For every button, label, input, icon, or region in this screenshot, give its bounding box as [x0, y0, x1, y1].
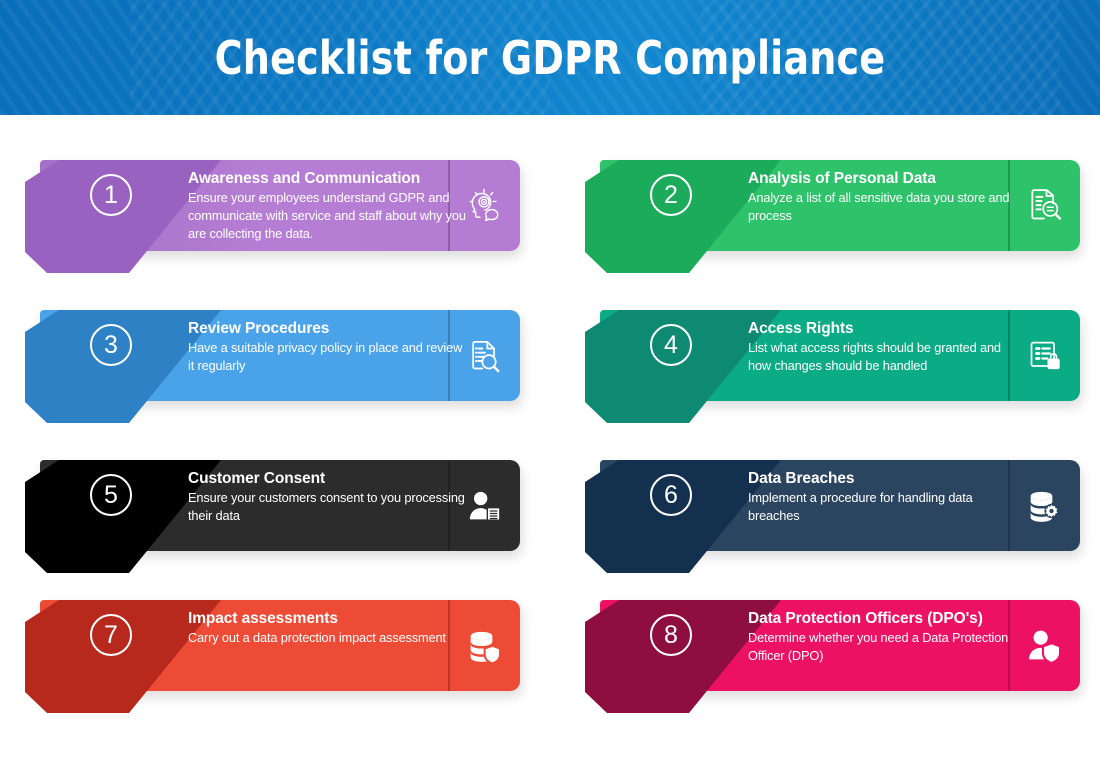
card-text: Customer Consent Ensure your customers c… [188, 469, 466, 525]
card-title: Data Protection Officers (DPO's) [748, 609, 1026, 628]
checklist-card-4[interactable]: Access Rights List what access rights sh… [600, 310, 1080, 401]
card-number-badge: 1 [90, 174, 132, 216]
checklist-card-2[interactable]: Analysis of Personal Data Analyze a list… [600, 160, 1080, 251]
card-description: Have a suitable privacy policy in place … [188, 339, 466, 374]
card-description: Implement a procedure for handling data … [748, 489, 1026, 524]
card-number-badge: 3 [90, 324, 132, 366]
card-text: Awareness and Communication Ensure your … [188, 169, 466, 242]
checklist-card-3[interactable]: Review Procedures Have a suitable privac… [40, 310, 520, 401]
card-description: Ensure your customers consent to you pro… [188, 489, 466, 524]
card-number-badge: 6 [650, 474, 692, 516]
checklist-grid: Awareness and Communication Ensure your … [0, 115, 1100, 780]
checklist-card-5[interactable]: Customer Consent Ensure your customers c… [40, 460, 520, 551]
checklist-card-8[interactable]: Data Protection Officers (DPO's) Determi… [600, 600, 1080, 691]
database-gear-icon [1024, 486, 1064, 526]
checklist-card-1[interactable]: Awareness and Communication Ensure your … [40, 160, 520, 251]
card-description: Analyze a list of all sensitive data you… [748, 189, 1026, 224]
checklist-card-7[interactable]: Impact assessments Carry out a data prot… [40, 600, 520, 691]
card-number-badge: 8 [650, 614, 692, 656]
card-title: Impact assessments [188, 609, 466, 628]
card-description: Ensure your employees understand GDPR an… [188, 189, 466, 242]
card-description: List what access rights should be grante… [748, 339, 1026, 374]
page-title: Checklist for GDPR Compliance [44, 0, 1056, 115]
page-header: Checklist for GDPR Compliance [0, 0, 1100, 115]
document-magnifier-icon [1024, 186, 1064, 226]
card-number-badge: 4 [650, 324, 692, 366]
card-title: Data Breaches [748, 469, 1026, 488]
policy-document-search-icon [464, 336, 504, 376]
head-idea-speech-icon [464, 186, 504, 226]
card-title: Review Procedures [188, 319, 466, 338]
list-lock-icon [1024, 336, 1064, 376]
person-shield-icon [1024, 626, 1064, 666]
card-title: Access Rights [748, 319, 1026, 338]
card-text: Analysis of Personal Data Analyze a list… [748, 169, 1026, 225]
checklist-card-6[interactable]: Data Breaches Implement a procedure for … [600, 460, 1080, 551]
database-shield-icon [464, 626, 504, 666]
card-text: Data Breaches Implement a procedure for … [748, 469, 1026, 525]
card-number-badge: 7 [90, 614, 132, 656]
card-title: Analysis of Personal Data [748, 169, 1026, 188]
card-description: Determine whether you need a Data Protec… [748, 629, 1026, 664]
card-text: Access Rights List what access rights sh… [748, 319, 1026, 375]
card-text: Data Protection Officers (DPO's) Determi… [748, 609, 1026, 665]
card-title: Customer Consent [188, 469, 466, 488]
card-number-badge: 5 [90, 474, 132, 516]
card-text: Review Procedures Have a suitable privac… [188, 319, 466, 375]
card-text: Impact assessments Carry out a data prot… [188, 609, 466, 647]
card-number-badge: 2 [650, 174, 692, 216]
person-document-icon [464, 486, 504, 526]
card-title: Awareness and Communication [188, 169, 466, 188]
card-description: Carry out a data protection impact asses… [188, 629, 466, 647]
